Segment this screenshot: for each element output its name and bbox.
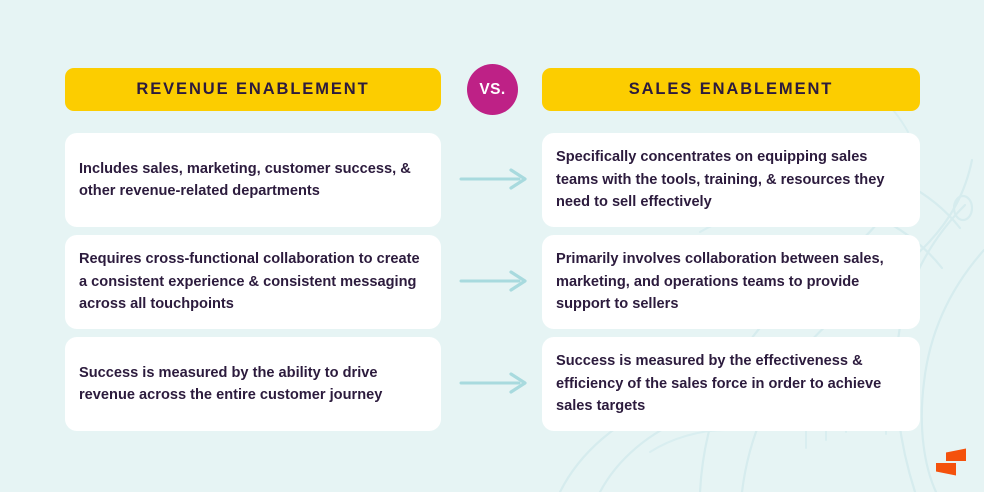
card-left: Requires cross-functional collaboration … (65, 235, 441, 329)
card-right-text: Primarily involves collaboration between… (556, 248, 906, 316)
header-pill-revenue-enablement: REVENUE ENABLEMENT (65, 68, 441, 111)
header-label-right: SALES ENABLEMENT (629, 80, 834, 99)
card-left-text: Requires cross-functional collaboration … (79, 248, 427, 316)
headers-row: REVENUE ENABLEMENT VS. SALES ENABLEMENT (0, 68, 984, 111)
vs-badge-label: VS. (479, 81, 505, 99)
arrow-right-icon (459, 370, 529, 396)
card-left: Success is measured by the ability to dr… (65, 337, 441, 431)
header-label-left: REVENUE ENABLEMENT (136, 80, 369, 99)
card-right: Success is measured by the effectiveness… (542, 337, 920, 431)
comparison-infographic: REVENUE ENABLEMENT VS. SALES ENABLEMENT … (0, 0, 984, 492)
card-left-text: Includes sales, marketing, customer succ… (79, 158, 427, 203)
card-right: Specifically concentrates on equipping s… (542, 133, 920, 227)
vs-badge: VS. (467, 64, 518, 115)
card-right-text: Specifically concentrates on equipping s… (556, 146, 906, 214)
brand-logo-icon (933, 444, 969, 480)
card-left: Includes sales, marketing, customer succ… (65, 133, 441, 227)
arrow-right-icon (459, 268, 529, 294)
arrow-right-icon (459, 166, 529, 192)
card-right-text: Success is measured by the effectiveness… (556, 350, 906, 418)
comparison-row: Requires cross-functional collaboration … (0, 235, 984, 329)
comparison-row: Success is measured by the ability to dr… (0, 337, 984, 431)
header-pill-sales-enablement: SALES ENABLEMENT (542, 68, 920, 111)
comparison-row: Includes sales, marketing, customer succ… (0, 133, 984, 227)
card-right: Primarily involves collaboration between… (542, 235, 920, 329)
card-left-text: Success is measured by the ability to dr… (79, 362, 427, 407)
